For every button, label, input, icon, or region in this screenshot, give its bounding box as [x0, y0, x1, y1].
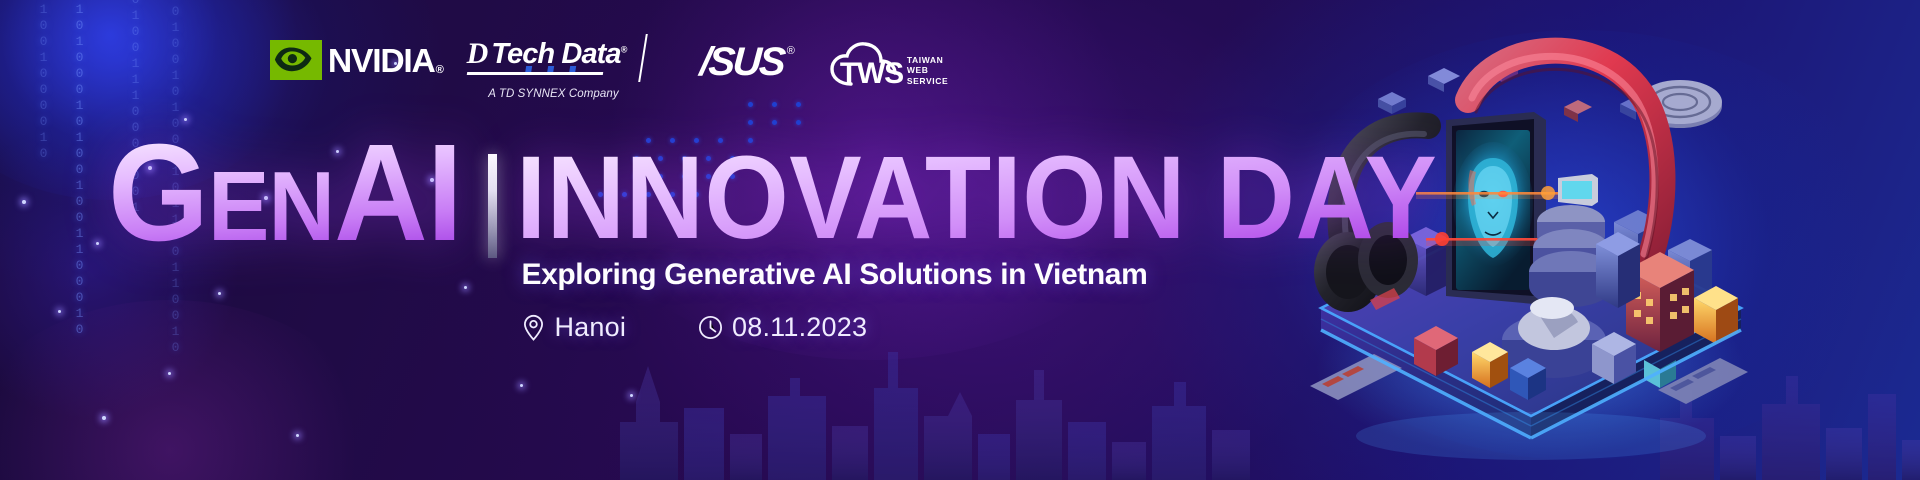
page-title-genai: GENAI	[108, 138, 462, 261]
sparkle	[22, 200, 26, 204]
tws-cloud-icon: TWS	[829, 40, 903, 88]
genai-innovation-day-banner: 01001000010 1101000101001001100010 10010…	[0, 0, 1920, 480]
sparkle	[102, 416, 106, 420]
event-date: 08.11.2023	[698, 312, 867, 343]
logo-nvidia[interactable]: NVIDIA®	[270, 38, 441, 82]
location-pin-icon	[522, 314, 545, 341]
genai-ai: AI	[334, 138, 462, 248]
tws-wordmark: TWS	[840, 59, 903, 89]
title-divider	[488, 154, 497, 258]
sparkle	[96, 242, 99, 245]
tws-sublabel: TAIWAN WEB SERVICE	[907, 55, 948, 87]
event-location: Hanoi	[522, 312, 626, 343]
event-location-label: Hanoi	[554, 312, 626, 343]
logo-asus[interactable]: /SUS ®	[700, 42, 794, 82]
genai-g: G	[108, 138, 208, 248]
binary-rain-column: 01001000010	[36, 0, 51, 162]
event-meta: Hanoi 08.11.2023	[522, 312, 1517, 343]
sparkle	[58, 310, 61, 313]
headline-right-column: INNOVATION DAY Exploring Generative AI S…	[516, 146, 1517, 343]
logo-tws[interactable]: TWS TAIWAN WEB SERVICE	[829, 40, 948, 88]
techdata-wordmark: Tech Data®	[491, 40, 626, 69]
nvidia-wordmark: NVIDIA®	[328, 44, 442, 77]
sparkle	[296, 434, 299, 437]
sparkle	[168, 372, 171, 375]
sponsor-logo-strip: NVIDIA® D Tech Data® A TD SYNNEX Company…	[270, 34, 948, 96]
binary-rain-column: 1101000101001001100010	[72, 0, 87, 338]
asus-trademark: ®	[787, 45, 795, 57]
techdata-tagline: A TD SYNNEX Company	[465, 88, 643, 100]
headline-block: GENAI INNOVATION DAY Exploring Generativ…	[108, 138, 1518, 343]
techdata-underbar	[466, 72, 602, 75]
page-title-main: INNOVATION DAY	[516, 146, 1437, 250]
asus-wordmark: /SUS	[699, 42, 785, 82]
event-date-label: 08.11.2023	[732, 312, 867, 343]
sparkle	[630, 394, 633, 397]
nvidia-eye-icon	[270, 40, 322, 80]
sparkle	[520, 384, 523, 387]
clock-icon	[698, 315, 723, 340]
techdata-monogram: D	[467, 39, 487, 69]
logo-techdata[interactable]: D Tech Data® A TD SYNNEX Company	[465, 37, 643, 100]
genai-en: EN	[208, 151, 334, 261]
